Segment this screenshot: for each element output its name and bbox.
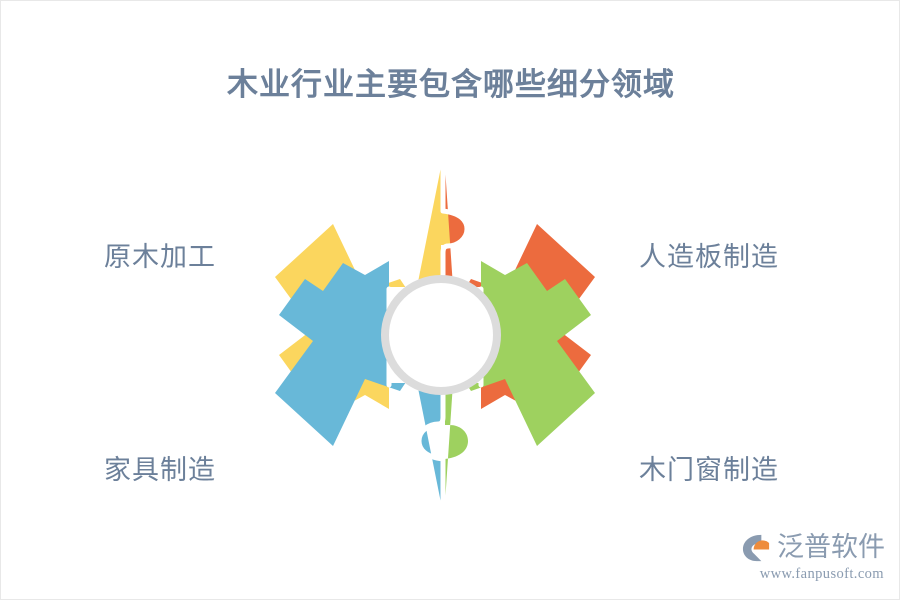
segment-label-raw-wood: 原木加工 [104, 241, 216, 275]
segment-label-doorwindow: 木门窗制造 [639, 454, 779, 488]
brand-logo: 泛普软件 www.fanpusoft.com [741, 532, 885, 583]
brand-name: 泛普软件 [777, 534, 885, 561]
jigsaw-diagram [265, 159, 617, 511]
brand-url: www.fanpusoft.com [760, 566, 884, 583]
center-ring [385, 279, 497, 391]
segment-label-furniture: 家具制造 [104, 454, 216, 488]
fanpu-logo-icon [741, 532, 772, 563]
brand-logo-row: 泛普软件 [741, 532, 885, 563]
page-title: 木业行业主要包含哪些细分领域 [1, 66, 900, 103]
segment-label-panel: 人造板制造 [639, 241, 779, 275]
page-root: 木业行业主要包含哪些细分领域 [0, 0, 900, 600]
